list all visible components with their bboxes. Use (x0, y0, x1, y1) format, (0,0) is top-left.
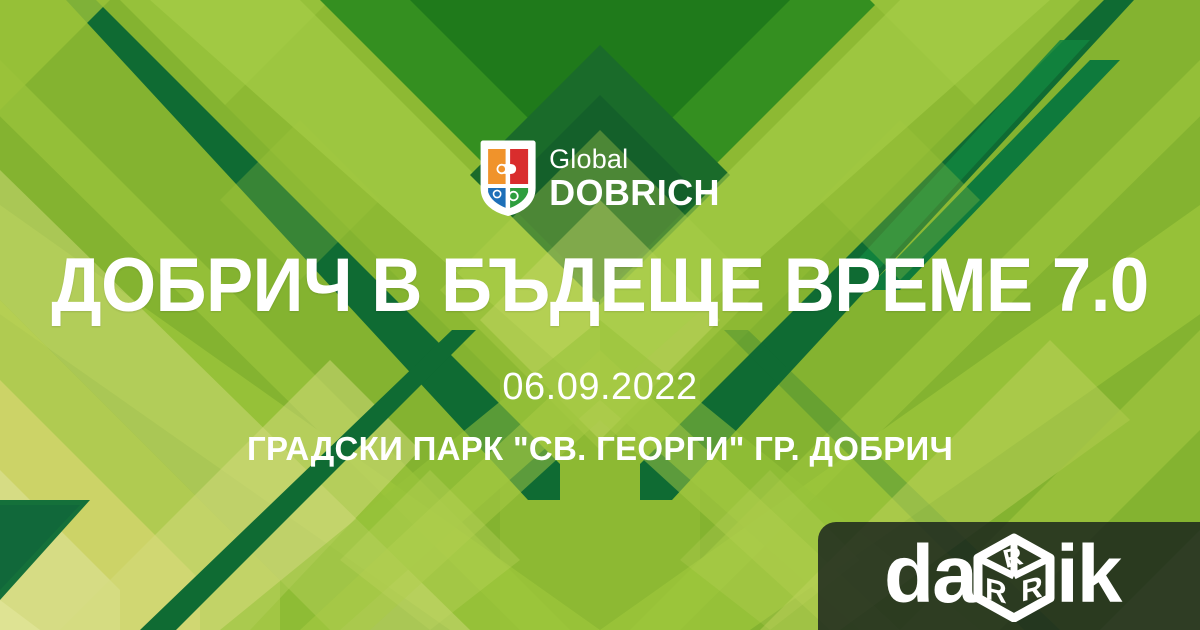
brand-word-dobrich: DOBRICH (549, 175, 720, 211)
global-dobrich-logo: Global DOBRICH (480, 140, 720, 216)
shield-puzzle-icon (480, 140, 536, 216)
darik-watermark: da R R R ik (818, 522, 1200, 630)
darik-cube-icon: R R R (978, 538, 1050, 618)
svg-text:da: da (884, 530, 979, 620)
event-venue: ГРАДСКИ ПАРК "СВ. ГЕОРГИ" ГР. ДОБРИЧ (0, 432, 1200, 465)
svg-text:R: R (1021, 570, 1043, 609)
event-poster: Global DOBRICH ДОБРИЧ В БЪДЕЩЕ ВРЕМЕ 7.0… (0, 0, 1200, 630)
svg-text:R: R (985, 572, 1007, 611)
page-title: ДОБРИЧ В БЪДЕЩЕ ВРЕМЕ 7.0 (42, 248, 1158, 324)
brand-wordmark: Global DOBRICH (549, 146, 720, 211)
svg-text:ik: ik (1056, 530, 1123, 620)
darik-logo: da R R R ik (884, 530, 1144, 622)
brand-word-global: Global (549, 146, 720, 173)
event-date: 06.09.2022 (0, 368, 1200, 406)
